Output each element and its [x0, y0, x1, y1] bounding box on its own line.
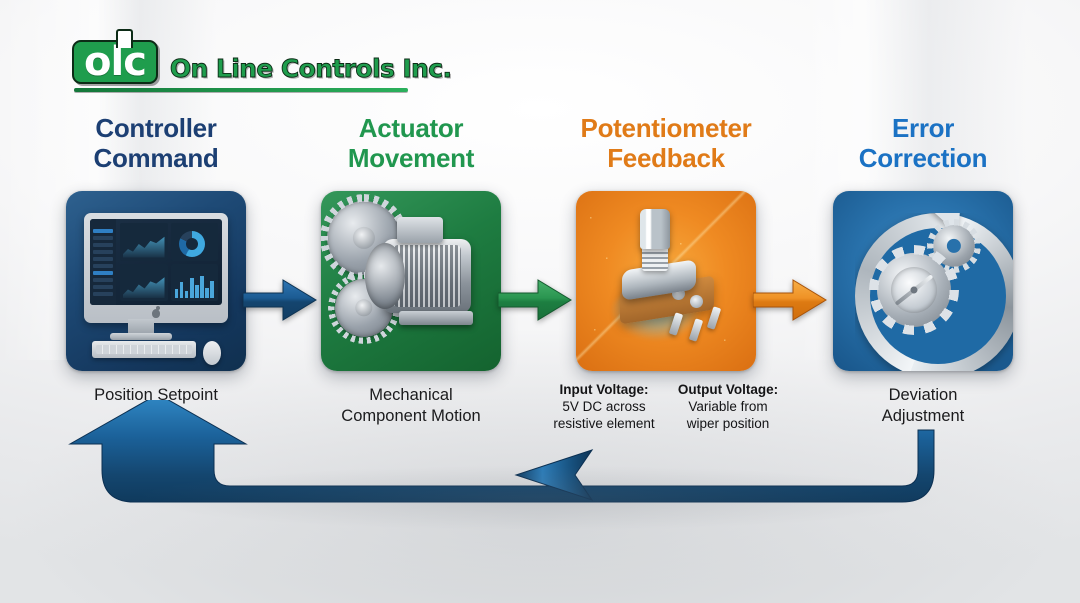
step-title-line2: Command	[38, 143, 274, 173]
step-icon-tile-motor	[321, 191, 501, 371]
flow-arrow-potentiometer-to-error	[753, 277, 827, 323]
step-title-line2: Feedback	[548, 143, 784, 173]
logo-letter-riser	[116, 29, 133, 48]
monitor-icon	[84, 213, 228, 323]
chart-pane-donut	[171, 223, 219, 261]
step-icon-tile-error-correction	[833, 191, 1013, 371]
keyboard-icon	[92, 341, 196, 358]
step-title-line2: Correction	[805, 143, 1041, 173]
logo-wordmark: On Line Controls Inc.	[170, 54, 451, 83]
step-title-line2: Movement	[293, 143, 529, 173]
logo-underline-rule	[74, 88, 408, 92]
motor-mounting-foot	[399, 311, 473, 325]
compass-gauge-icon	[891, 267, 937, 313]
screen-sidebar	[90, 219, 116, 305]
compass-needle	[895, 274, 934, 305]
mouse-icon	[203, 341, 221, 365]
chart-pane-line	[120, 223, 168, 261]
apple-logo-icon	[152, 309, 160, 318]
step-title-potentiometer-feedback: Potentiometer Feedback	[548, 113, 784, 173]
flow-arrow-controller-to-actuator	[243, 277, 317, 323]
monitor-chin	[90, 305, 222, 321]
step-icon-tile-computer	[66, 191, 246, 371]
step-title-line1: Controller	[38, 113, 274, 143]
spec-label: Output Voltage:	[672, 381, 784, 398]
logo-mark-text: olc	[84, 45, 146, 79]
step-title-error-correction: Error Correction	[805, 113, 1041, 173]
company-logo: olc On Line Controls Inc.	[72, 40, 451, 84]
motor-terminal-box	[397, 217, 443, 243]
feedback-loop-arrow	[0, 400, 1080, 530]
pot-shaft-knob	[640, 209, 670, 249]
step-title-line1: Error	[805, 113, 1041, 143]
step-title-controller-command: Controller Command	[38, 113, 274, 173]
pot-solder-lug	[690, 295, 703, 308]
step-title-line1: Potentiometer	[548, 113, 784, 143]
screen-panes	[116, 219, 222, 305]
monitor-stand-base	[110, 333, 172, 340]
chart-pane-line2	[120, 264, 168, 302]
spec-label: Input Voltage:	[548, 381, 660, 398]
dashboard-screen	[90, 219, 222, 305]
flow-arrow-actuator-to-potentiometer	[498, 277, 572, 323]
step-title-line1: Actuator	[293, 113, 529, 143]
step-title-actuator-movement: Actuator Movement	[293, 113, 529, 173]
step-icon-tile-potentiometer	[576, 191, 756, 371]
logo-mark-olc: olc	[72, 40, 158, 84]
infographic-canvas: olc On Line Controls Inc. Controller Com…	[0, 0, 1080, 603]
chart-pane-bars	[171, 264, 219, 302]
motor-face	[365, 243, 405, 309]
